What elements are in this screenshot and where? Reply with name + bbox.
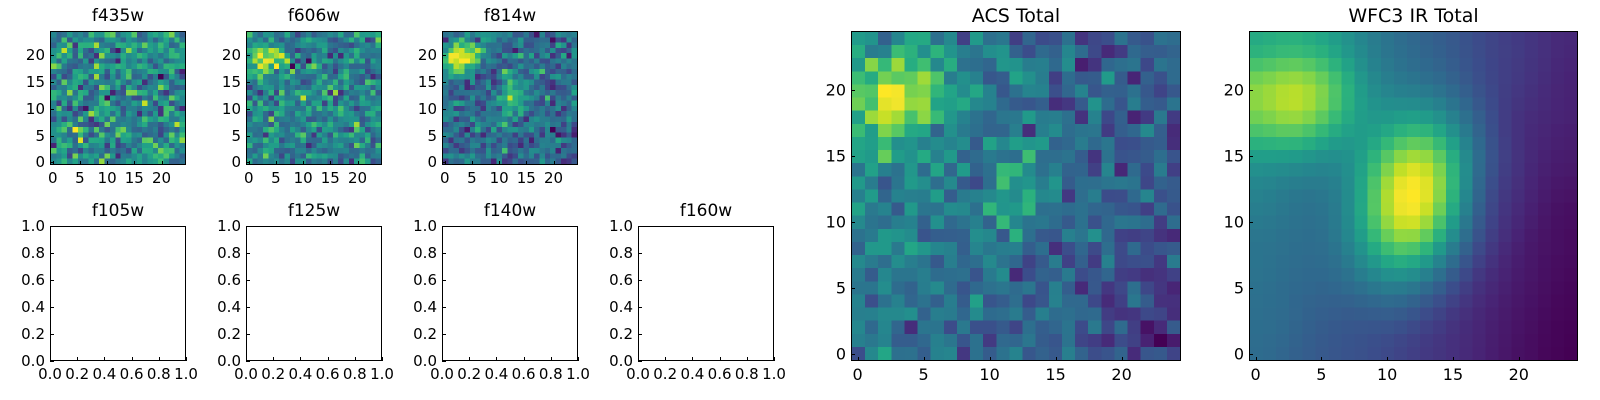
xtick-mark [104,357,105,361]
ytick-label: 20 [803,81,846,100]
xtick-label: 0.2 [457,365,481,383]
xtick-label: 5 [75,169,85,187]
ytick-label: 0 [803,345,846,364]
xtick-label: 5 [1316,365,1326,384]
xtick-mark [162,161,163,165]
ytick-mark [50,55,54,56]
ytick-mark [1249,222,1253,223]
ytick-label: 15 [1201,147,1244,166]
xtick-label: 1.0 [370,365,394,383]
xtick-label: 0.4 [288,365,312,383]
ytick-mark [851,156,855,157]
xtick-label: 10 [1377,365,1397,384]
ytick-label: 0.4 [590,298,633,316]
xtick-mark [330,161,331,165]
ytick-mark [50,226,54,227]
xtick-label: 5 [467,169,477,187]
xtick-mark [107,161,108,165]
panel-title-acs-total: ACS Total [851,5,1181,27]
axes-f160w [638,226,774,361]
xtick-mark [774,357,775,361]
xtick-mark [355,357,356,361]
xtick-label: 15 [125,169,144,187]
xtick-label: 0.6 [512,365,536,383]
ytick-mark [50,82,54,83]
xtick-label: 0.6 [316,365,340,383]
ytick-label: 0.4 [394,298,437,316]
ytick-label: 10 [803,213,846,232]
ytick-mark [246,361,250,362]
xtick-label: 5 [919,365,929,384]
xtick-mark [990,357,991,361]
ytick-label: 0 [1201,345,1244,364]
ytick-mark [1249,354,1253,355]
ytick-mark [638,280,642,281]
ytick-label: 0.4 [198,298,241,316]
xtick-label: 20 [348,169,367,187]
ytick-mark [50,334,54,335]
ytick-mark [442,226,446,227]
xtick-mark [720,357,721,361]
xtick-label: 0.4 [680,365,704,383]
xtick-label: 1.0 [762,365,786,383]
ytick-label: 0.2 [198,325,241,343]
panel-f814w: f814w0510152005101520 [394,5,578,193]
ytick-mark [246,280,250,281]
ytick-mark [246,109,250,110]
ytick-mark [1249,90,1253,91]
axes-f140w [442,226,578,361]
heatmap-f435w [51,32,185,164]
ytick-mark [50,307,54,308]
ytick-mark [246,136,250,137]
xtick-mark [273,357,274,361]
heatmap-wfc3-ir-total [1250,32,1577,360]
panel-f125w: f125w0.00.20.40.60.81.00.00.20.40.60.81.… [198,200,382,389]
ytick-label: 10 [2,100,45,118]
ytick-label: 0.6 [2,271,45,289]
ytick-mark [246,226,250,227]
ytick-label: 5 [803,279,846,298]
panel-title-f814w: f814w [442,5,578,27]
xtick-label: 0.2 [261,365,285,383]
ytick-label: 0.2 [394,325,437,343]
ytick-label: 0.8 [2,244,45,262]
xtick-mark [159,357,160,361]
ytick-label: 15 [394,73,437,91]
xtick-mark [469,357,470,361]
ytick-mark [246,55,250,56]
ytick-label: 20 [1201,81,1244,100]
ytick-label: 0.6 [590,271,633,289]
ytick-mark [442,136,446,137]
xtick-label: 0.8 [735,365,759,383]
xtick-mark [276,161,277,165]
ytick-label: 0.6 [198,271,241,289]
ytick-mark [442,253,446,254]
panel-title-wfc3-ir-total: WFC3 IR Total [1249,5,1578,27]
ytick-label: 5 [198,127,241,145]
xtick-label: 0.8 [539,365,563,383]
ytick-label: 5 [394,127,437,145]
xtick-mark [499,161,500,165]
xtick-mark [1387,357,1388,361]
ytick-mark [442,334,446,335]
panel-f606w: f606w0510152005101520 [198,5,382,193]
ytick-label: 0 [2,153,45,171]
xtick-label: 0.8 [147,365,171,383]
heatmap-f814w [443,32,577,164]
xtick-mark [472,161,473,165]
xtick-label: 15 [321,169,340,187]
ytick-mark [638,307,642,308]
ytick-mark [246,162,250,163]
xtick-label: 0.4 [92,365,116,383]
ytick-label: 10 [1201,213,1244,232]
ytick-mark [638,226,642,227]
ytick-mark [246,253,250,254]
ytick-mark [442,280,446,281]
xtick-mark [1321,357,1322,361]
xtick-label: 0.4 [484,365,508,383]
xtick-mark [303,161,304,165]
ytick-label: 0.0 [394,352,437,370]
xtick-mark [300,357,301,361]
axes-f606w [246,31,382,165]
ytick-mark [851,288,855,289]
ytick-mark [50,109,54,110]
ytick-label: 20 [394,46,437,64]
heatmap-f606w [247,32,381,164]
panel-title-f160w: f160w [638,200,774,222]
ytick-label: 1.0 [590,217,633,235]
xtick-mark [328,357,329,361]
xtick-label: 15 [1045,365,1065,384]
ytick-label: 0.8 [198,244,241,262]
ytick-label: 5 [2,127,45,145]
ytick-mark [638,361,642,362]
panel-acs-total: ACS Total0510152005101520 [803,5,1181,389]
xtick-label: 10 [98,169,117,187]
ytick-label: 20 [198,46,241,64]
ytick-mark [638,334,642,335]
ytick-label: 15 [2,73,45,91]
xtick-mark [1453,357,1454,361]
ytick-mark [442,162,446,163]
axes-f435w [50,31,186,165]
ytick-mark [442,55,446,56]
xtick-mark [1056,357,1057,361]
ytick-mark [851,222,855,223]
ytick-label: 20 [2,46,45,64]
ytick-label: 0.8 [590,244,633,262]
xtick-label: 0.2 [653,365,677,383]
xtick-mark [358,161,359,165]
axes-f814w [442,31,578,165]
xtick-label: 0 [48,169,58,187]
axes-f125w [246,226,382,361]
ytick-mark [638,253,642,254]
xtick-mark [578,357,579,361]
heatmap-acs-total [852,32,1180,360]
xtick-mark [551,357,552,361]
xtick-label: 1.0 [566,365,590,383]
ytick-label: 0 [394,153,437,171]
xtick-label: 20 [544,169,563,187]
ytick-label: 0 [198,153,241,171]
xtick-mark [747,357,748,361]
ytick-label: 0.8 [394,244,437,262]
ytick-label: 0.0 [2,352,45,370]
xtick-label: 15 [517,169,536,187]
ytick-label: 1.0 [2,217,45,235]
ytick-mark [1249,288,1253,289]
xtick-label: 20 [1111,365,1131,384]
xtick-mark [77,357,78,361]
xtick-mark [1519,357,1520,361]
ytick-mark [851,354,855,355]
xtick-label: 10 [979,365,999,384]
ytick-label: 0.0 [198,352,241,370]
xtick-label: 20 [1509,365,1529,384]
ytick-mark [50,136,54,137]
xtick-label: 1.0 [174,365,198,383]
xtick-label: 10 [294,169,313,187]
axes-acs-total [851,31,1181,361]
xtick-label: 0 [244,169,254,187]
panel-f435w: f435w0510152005101520 [2,5,186,193]
xtick-mark [1122,357,1123,361]
xtick-label: 5 [271,169,281,187]
figure-canvas: f435w0510152005101520f606w05101520051015… [0,0,1600,400]
xtick-mark [382,357,383,361]
xtick-mark [526,161,527,165]
xtick-label: 0 [440,169,450,187]
xtick-mark [80,161,81,165]
xtick-label: 0 [853,365,863,384]
ytick-mark [442,307,446,308]
ytick-mark [246,334,250,335]
xtick-label: 0.6 [120,365,144,383]
ytick-label: 15 [803,147,846,166]
xtick-mark [1256,357,1257,361]
xtick-label: 20 [152,169,171,187]
ytick-mark [851,90,855,91]
xtick-mark [665,357,666,361]
ytick-label: 0.0 [590,352,633,370]
ytick-label: 0.4 [2,298,45,316]
xtick-label: 0 [1250,365,1260,384]
panel-title-f105w: f105w [50,200,186,222]
xtick-mark [858,357,859,361]
ytick-mark [246,82,250,83]
xtick-label: 0.8 [343,365,367,383]
ytick-label: 0.2 [2,325,45,343]
ytick-label: 10 [394,100,437,118]
axes-f105w [50,226,186,361]
xtick-mark [132,357,133,361]
ytick-label: 5 [1201,279,1244,298]
ytick-mark [442,82,446,83]
ytick-label: 1.0 [198,217,241,235]
panel-f140w: f140w0.00.20.40.60.81.00.00.20.40.60.81.… [394,200,578,389]
panel-wfc3-ir-total: WFC3 IR Total0510152005101520 [1201,5,1578,389]
xtick-mark [524,357,525,361]
panel-title-f435w: f435w [50,5,186,27]
ytick-mark [50,361,54,362]
ytick-mark [50,280,54,281]
ytick-mark [50,162,54,163]
xtick-label: 10 [490,169,509,187]
axes-wfc3-ir-total [1249,31,1578,361]
panel-f105w: f105w0.00.20.40.60.81.00.00.20.40.60.81.… [2,200,186,389]
panel-title-f606w: f606w [246,5,382,27]
xtick-label: 15 [1443,365,1463,384]
xtick-label: 0.2 [65,365,89,383]
xtick-mark [924,357,925,361]
panel-title-f125w: f125w [246,200,382,222]
ytick-mark [50,253,54,254]
xtick-mark [692,357,693,361]
ytick-label: 0.6 [394,271,437,289]
ytick-label: 15 [198,73,241,91]
xtick-mark [496,357,497,361]
ytick-mark [1249,156,1253,157]
panel-title-f140w: f140w [442,200,578,222]
xtick-mark [186,357,187,361]
ytick-label: 0.2 [590,325,633,343]
ytick-label: 10 [198,100,241,118]
ytick-mark [442,109,446,110]
panel-f160w: f160w0.00.20.40.60.81.00.00.20.40.60.81.… [590,200,774,389]
xtick-mark [134,161,135,165]
xtick-label: 0.6 [708,365,732,383]
ytick-mark [442,361,446,362]
ytick-mark [246,307,250,308]
ytick-label: 1.0 [394,217,437,235]
xtick-mark [554,161,555,165]
